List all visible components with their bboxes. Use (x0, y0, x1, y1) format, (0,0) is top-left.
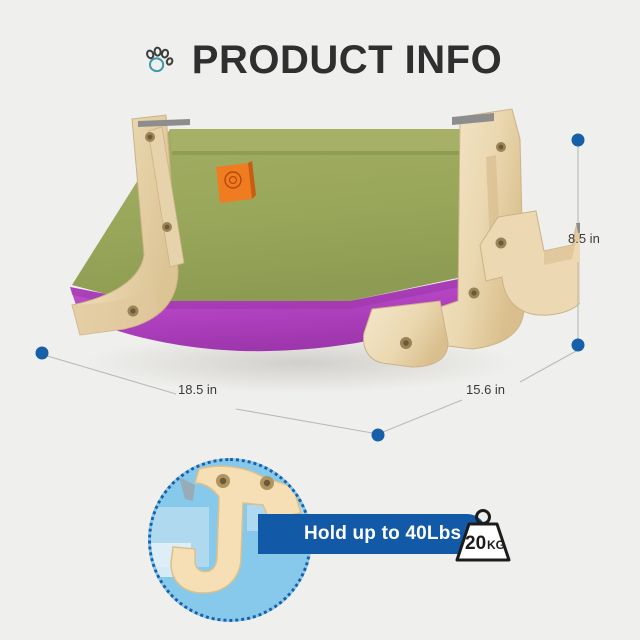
dim-marker-bottom-center (372, 429, 385, 442)
dimension-label-depth: 15.6 in (466, 382, 505, 397)
dimension-label-width: 18.5 in (178, 382, 217, 397)
weight-icon: 20 KG (452, 508, 514, 564)
weight-value: 20 (465, 533, 486, 554)
product-scene (0, 95, 640, 425)
capacity-label: Hold up to 40Lbs (304, 523, 461, 545)
weight-unit: KG (487, 538, 505, 552)
paw-print-icon (138, 42, 178, 82)
metal-clip (179, 477, 195, 501)
brand-tag (216, 161, 256, 203)
feature-strip: Hold up to 40Lbs 20 KG (0, 450, 640, 625)
fabric-top-roll (170, 129, 475, 151)
fabric-seam (172, 151, 476, 155)
dimension-label-height: 8.5 in (568, 231, 600, 246)
page-header: PRODUCT INFO (0, 30, 640, 90)
product-image (20, 95, 580, 405)
page-title: PRODUCT INFO (192, 40, 502, 80)
